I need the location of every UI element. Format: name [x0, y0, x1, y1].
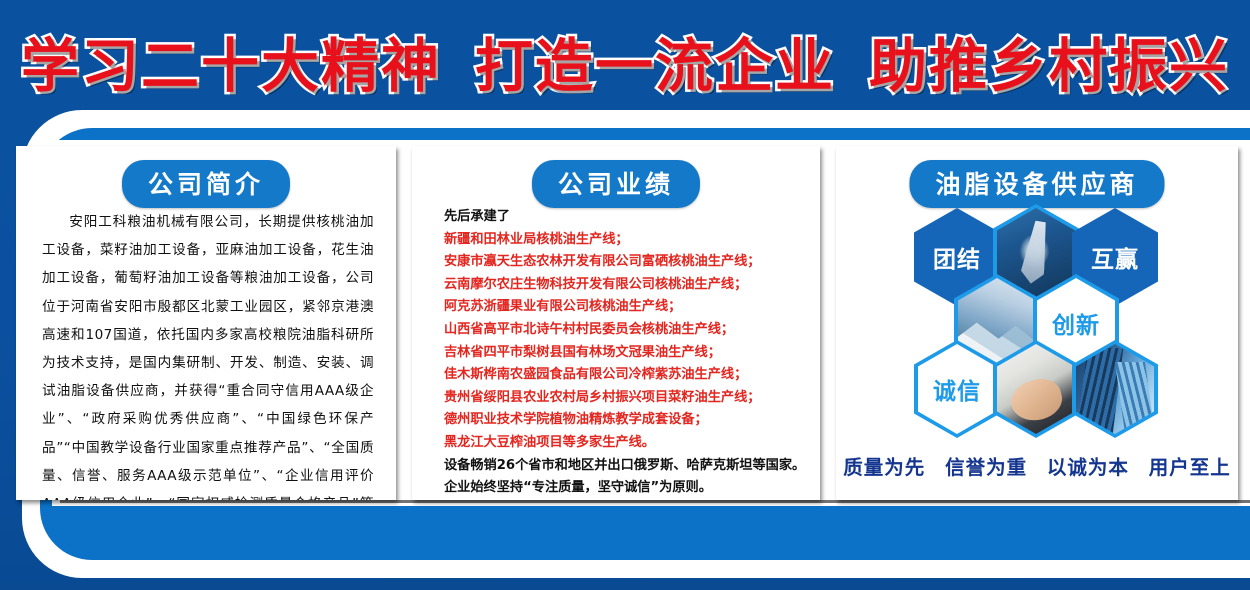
banner-part-2: 打造一流企业: [475, 19, 835, 103]
badge-supplier: 油脂设备供应商: [909, 160, 1164, 208]
project-line: 新疆和田林业局核桃油生产线；: [444, 229, 800, 252]
project-line: 佳木斯桦南农盛园食品有限公司冷榨紫苏油生产线；: [444, 364, 800, 387]
banner-part-3: 助推乡村振兴: [869, 19, 1229, 103]
panel-company-profile: 公司简介 安阳工科粮油机械有限公司，长期提供核桃油加工设备，菜籽油加工设备，亚麻…: [16, 146, 396, 500]
slogan-part: 用户至上: [1149, 456, 1231, 479]
panel-supplier: 油脂设备供应商 团结 互赢 创新 诚信: [836, 146, 1238, 500]
company-performance-body: 先后承建了 新疆和田林业局核桃油生产线； 安康市瀛天生态农林开发有限公司富硒核桃…: [444, 206, 800, 500]
performance-lead: 先后承建了: [444, 206, 800, 229]
project-line: 阿克苏浙疆果业有限公司核桃油生产线；: [444, 296, 800, 319]
handshake-icon: [997, 344, 1075, 434]
company-profile-body: 安阳工科粮油机械有限公司，长期提供核桃油加工设备，菜籽油加工设备，亚麻油加工设备…: [42, 208, 374, 500]
hex-label: 创新: [1052, 306, 1100, 340]
performance-footer-line: 企业始终坚持“专注质量，坚守诚信”为原则。: [444, 477, 800, 500]
project-line: 云南摩尔农庄生物科技开发有限公司核桃油生产线；: [444, 274, 800, 297]
frame-bottom-shadow: [60, 500, 1250, 503]
project-line: 山西省高平市北诗午村村民委员会核桃油生产线；: [444, 319, 800, 342]
banner-headline: 学习二十大精神 打造一流企业 助推乡村振兴: [0, 22, 1250, 100]
project-line: 德州职业技术学院植物油精炼教学成套设备；: [444, 409, 800, 432]
poster-canvas: 学习二十大精神 打造一流企业 助推乡村振兴 公司简介 安阳工科粮油机械有限公司，…: [0, 0, 1250, 590]
badge-company-profile: 公司简介: [122, 160, 290, 208]
slogan-part: 质量为先: [843, 456, 925, 479]
badge-company-performance: 公司业绩: [532, 160, 700, 208]
performance-footer-line: 设备畅销26个省市和地区并出口俄罗斯、哈萨克斯坦等国家。: [444, 455, 800, 478]
supplier-slogan: 质量为先 信誉为重 以诚为本 用户至上: [836, 451, 1238, 480]
slogan-part: 信誉为重: [945, 456, 1027, 479]
skyscrapers-icon: [1076, 344, 1154, 434]
panel-company-performance: 公司业绩 先后承建了 新疆和田林业局核桃油生产线； 安康市瀛天生态农林开发有限公…: [412, 146, 820, 500]
hex-label: 诚信: [933, 372, 981, 406]
hex-label: 互赢: [1091, 240, 1139, 274]
hexagon-cluster: 团结 互赢 创新 诚信: [836, 204, 1238, 434]
project-line: 黑龙江大豆榨油项目等多家生产线。: [444, 432, 800, 455]
project-line: 吉林省四平市梨树县国有林场文冠果油生产线；: [444, 342, 800, 365]
project-line: 贵州省绥阳县农业农村局乡村振兴项目菜籽油生产线；: [444, 387, 800, 410]
banner-part-1: 学习二十大精神: [21, 19, 441, 103]
slogan-part: 以诚为本: [1047, 456, 1129, 479]
hex-label: 团结: [933, 240, 981, 274]
project-line: 安康市瀛天生态农林开发有限公司富硒核桃油生产线；: [444, 251, 800, 274]
